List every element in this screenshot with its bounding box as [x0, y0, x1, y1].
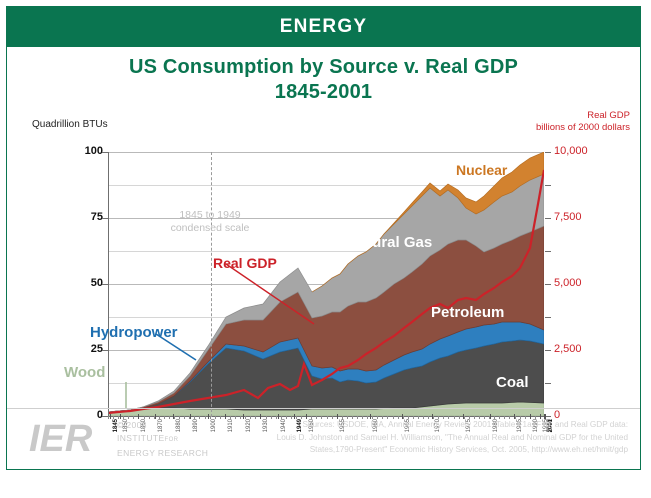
y-tick-right-2500: 2,500 [554, 343, 606, 355]
series-label-natural-gas: Natural Gas [348, 234, 432, 251]
series-label-coal: Coal [496, 374, 529, 391]
tickmark-left-75 [102, 218, 108, 219]
tickmark-right-3750 [545, 317, 551, 318]
tickmark-right-7500 [545, 218, 551, 219]
tickmark-right-8750 [545, 185, 551, 186]
ier-copyright: © 2008 [117, 419, 208, 432]
y-tick-left-75: 75 [59, 211, 103, 223]
header-title: ENERGY [280, 16, 367, 38]
ier-institute-word: INSTITUTE [117, 433, 165, 443]
condensed-scale-note-line-2: condensed scale [140, 222, 280, 235]
tickmark-left-50 [102, 284, 108, 285]
tickmark-right-2500 [545, 350, 551, 351]
tickmark-right-1250 [545, 383, 551, 384]
y-tick-left-100: 100 [59, 145, 103, 157]
y-axis-left-line [108, 152, 109, 417]
y-axis-right-caption-line-2: billions of 2000 dollars [536, 122, 630, 134]
tickmark-right-6250 [545, 251, 551, 252]
series-label-petroleum: Petroleum [431, 304, 504, 321]
title-line-2: 1845-2001 [7, 80, 640, 105]
ier-org-text: © 2008 INSTITUTEFOR ENERGY RESEARCH [117, 419, 208, 460]
ier-for-word: FOR [165, 437, 179, 443]
tickmark-right-10000 [545, 152, 551, 153]
ier-org-line-2: ENERGY RESEARCH [117, 447, 208, 460]
ier-org-line-1: INSTITUTEFOR [117, 432, 208, 447]
series-label-hydropower: Hydropower [90, 324, 178, 341]
header-banner: ENERGY [7, 7, 640, 47]
tickmark-left-25 [102, 350, 108, 351]
series-label-real-gdp: Real GDP [213, 255, 277, 271]
sources-line-2: Louis D. Johnston and Samuel H. Williams… [208, 432, 628, 445]
y-tick-left-50: 50 [59, 277, 103, 289]
tickmark-left-100 [102, 152, 108, 153]
condensed-scale-note: 1845 to 1949 condensed scale [140, 209, 280, 235]
footer: IER © 2008 INSTITUTEFOR ENERGY RESEARCH … [7, 408, 640, 469]
y-axis-right-caption: Real GDP billions of 2000 dollars [536, 110, 630, 134]
sources-line-3: States,1790-Present" Economic History Se… [208, 444, 628, 457]
condensed-scale-divider [211, 152, 212, 417]
series-label-nuclear: Nuclear [456, 162, 507, 178]
y-axis-right-caption-line-1: Real GDP [536, 110, 630, 122]
ier-logo-text: IER [29, 418, 93, 459]
series-label-wood: Wood [64, 364, 105, 381]
chart-card: ENERGY US Consumption by Source v. Real … [6, 6, 641, 470]
page-title: US Consumption by Source v. Real GDP 184… [7, 55, 640, 105]
ier-logo: IER [29, 417, 111, 459]
sources-line-1: Sources: USDOE, EIA, Annual Energy Revie… [208, 419, 628, 432]
y-tick-right-10000: 10,000 [554, 145, 606, 157]
title-line-1: US Consumption by Source v. Real GDP [7, 55, 640, 80]
y-tick-left-25: 25 [59, 343, 103, 355]
y-tick-right-7500: 7,500 [554, 211, 606, 223]
stacked-area-chart [108, 152, 544, 416]
y-tick-right-5000: 5,000 [554, 277, 606, 289]
condensed-scale-note-line-1: 1845 to 1949 [140, 209, 280, 222]
y-axis-left-caption: Quadrillion BTUs [32, 119, 108, 130]
tickmark-right-5000 [545, 284, 551, 285]
plot-area [108, 152, 544, 416]
sources-note: Sources: USDOE, EIA, Annual Energy Revie… [208, 419, 628, 457]
